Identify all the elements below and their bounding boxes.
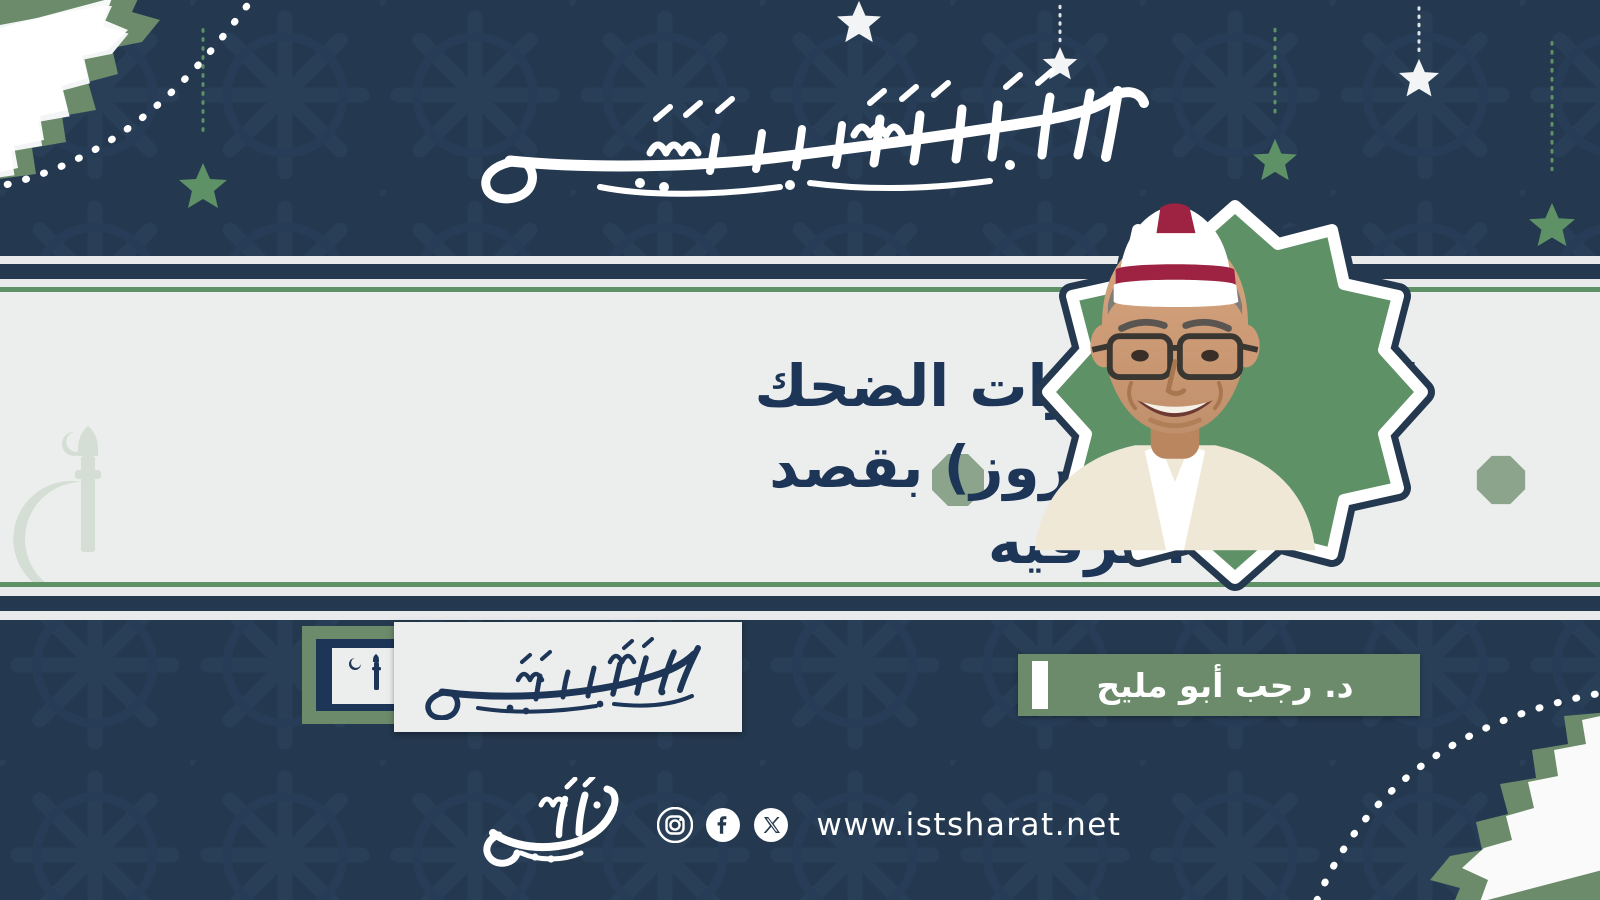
badge-calligraphy xyxy=(418,634,718,720)
portrait-photo xyxy=(1010,200,1340,560)
website-url[interactable]: www.istsharat.net xyxy=(817,807,1122,843)
x-twitter-icon[interactable] xyxy=(753,807,789,843)
instagram-icon[interactable] xyxy=(657,807,693,843)
banner-canvas: استنشاق غازات الضحك (أكسيد النيتروز) بقص… xyxy=(0,0,1600,900)
facebook-icon[interactable] xyxy=(705,807,741,843)
badge-text-plate xyxy=(394,622,742,732)
speaker-nameplate: د. رجب أبو مليح xyxy=(1018,654,1420,716)
footer: www.istsharat.net xyxy=(0,770,1600,880)
social-links xyxy=(657,807,789,843)
minaret-crescent-logo xyxy=(343,654,389,698)
speaker-name: د. رجب أبو مليح xyxy=(1048,666,1420,705)
nameplate-accent-bar xyxy=(1032,661,1048,709)
badge-logo-tile xyxy=(332,648,400,704)
consultation-type-badge xyxy=(302,622,742,734)
octagon-ornament-right xyxy=(1475,454,1527,506)
header-calligraphy xyxy=(0,52,1600,212)
avatar xyxy=(1010,200,1460,618)
brand-calligraphy-almojtama xyxy=(479,777,629,873)
mosque-minaret-watermark xyxy=(0,410,166,582)
